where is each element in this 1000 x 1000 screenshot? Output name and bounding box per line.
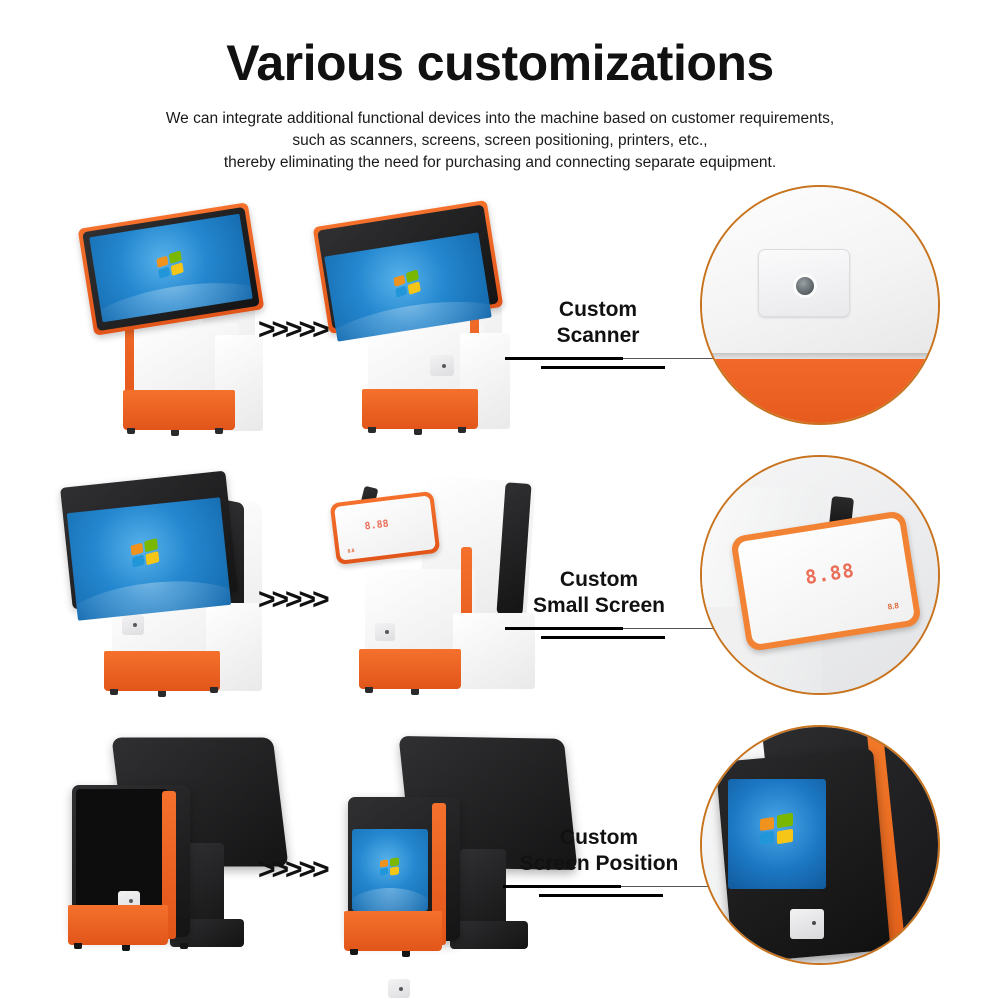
device-after-scanner bbox=[318, 213, 523, 428]
screen-windows-desktop-closeup bbox=[728, 779, 826, 889]
scanner-window bbox=[430, 355, 454, 376]
label-line-2: Screen Position bbox=[487, 851, 711, 877]
device-before-screen-position bbox=[58, 733, 273, 958]
label-custom-scanner: Custom Scanner bbox=[505, 297, 691, 375]
windows-logo-icon bbox=[760, 814, 794, 846]
label-line-1: Custom bbox=[487, 825, 711, 851]
subtitle-line-2: such as scanners, screens, screen positi… bbox=[0, 130, 1000, 152]
underline-primary bbox=[505, 357, 623, 360]
scanner-window-closeup bbox=[790, 909, 824, 939]
led-brand-logo-closeup: 8.8 bbox=[887, 601, 899, 612]
windows-logo-icon bbox=[380, 858, 400, 876]
label-underlines bbox=[493, 627, 705, 645]
callout-screen-position-closeup bbox=[700, 725, 940, 965]
underline-secondary bbox=[541, 636, 665, 639]
scanner-window bbox=[122, 615, 144, 635]
label-underlines bbox=[487, 885, 711, 903]
label-line-1: Custom bbox=[505, 297, 691, 323]
screen-windows-desktop bbox=[67, 497, 231, 621]
scanner-window bbox=[375, 623, 395, 641]
led-readout: 8.88 bbox=[364, 519, 389, 533]
underline-primary bbox=[505, 627, 623, 630]
page-subtitle: We can integrate additional functional d… bbox=[0, 108, 1000, 174]
page-title: Various customizations bbox=[0, 34, 1000, 92]
underline-secondary bbox=[541, 366, 665, 369]
led-brand-logo: 8.8 bbox=[347, 548, 355, 555]
transform-arrow-screen-position: >>>>> bbox=[258, 855, 326, 885]
label-underlines bbox=[505, 357, 691, 375]
label-line-2: Small Screen bbox=[493, 593, 705, 619]
device-before-scanner bbox=[75, 215, 275, 430]
subtitle-line-3: thereby eliminating the need for purchas… bbox=[0, 152, 1000, 174]
callout-scanner-closeup bbox=[700, 185, 940, 425]
screen-blank-black bbox=[76, 789, 168, 907]
label-line-2: Scanner bbox=[505, 323, 691, 349]
scanner-lens-icon bbox=[796, 277, 814, 295]
windows-logo-icon bbox=[130, 538, 161, 567]
screen-windows-desktop-small bbox=[352, 829, 428, 911]
row-custom-small-screen: >>>>> 8.88 8.8 Cu bbox=[0, 455, 1000, 725]
windows-logo-icon bbox=[156, 251, 185, 279]
transform-arrow-scanner: >>>>> bbox=[258, 315, 326, 345]
transform-arrow-small-screen: >>>>> bbox=[258, 585, 326, 615]
scanner-window bbox=[388, 979, 410, 998]
marketing-image-root: Various customizations We can integrate … bbox=[0, 0, 1000, 1000]
callout-small-screen-closeup: 8.88 8.8 bbox=[700, 455, 940, 695]
label-line-1: Custom bbox=[493, 567, 705, 593]
device-before-small-screen bbox=[60, 475, 270, 695]
label-custom-screen-position: Custom Screen Position bbox=[487, 825, 711, 903]
underline-primary bbox=[503, 885, 621, 888]
row-custom-scanner: >>>>> C bbox=[0, 185, 1000, 455]
underline-secondary bbox=[539, 894, 663, 897]
windows-logo-icon bbox=[393, 270, 422, 298]
label-custom-small-screen: Custom Small Screen bbox=[493, 567, 705, 645]
customer-led-panel: 8.88 8.8 bbox=[330, 491, 441, 565]
row-custom-screen-position: >>>>> Custom Sc bbox=[0, 725, 1000, 995]
led-readout-closeup: 8.88 bbox=[804, 559, 857, 589]
subtitle-line-1: We can integrate additional functional d… bbox=[0, 108, 1000, 130]
